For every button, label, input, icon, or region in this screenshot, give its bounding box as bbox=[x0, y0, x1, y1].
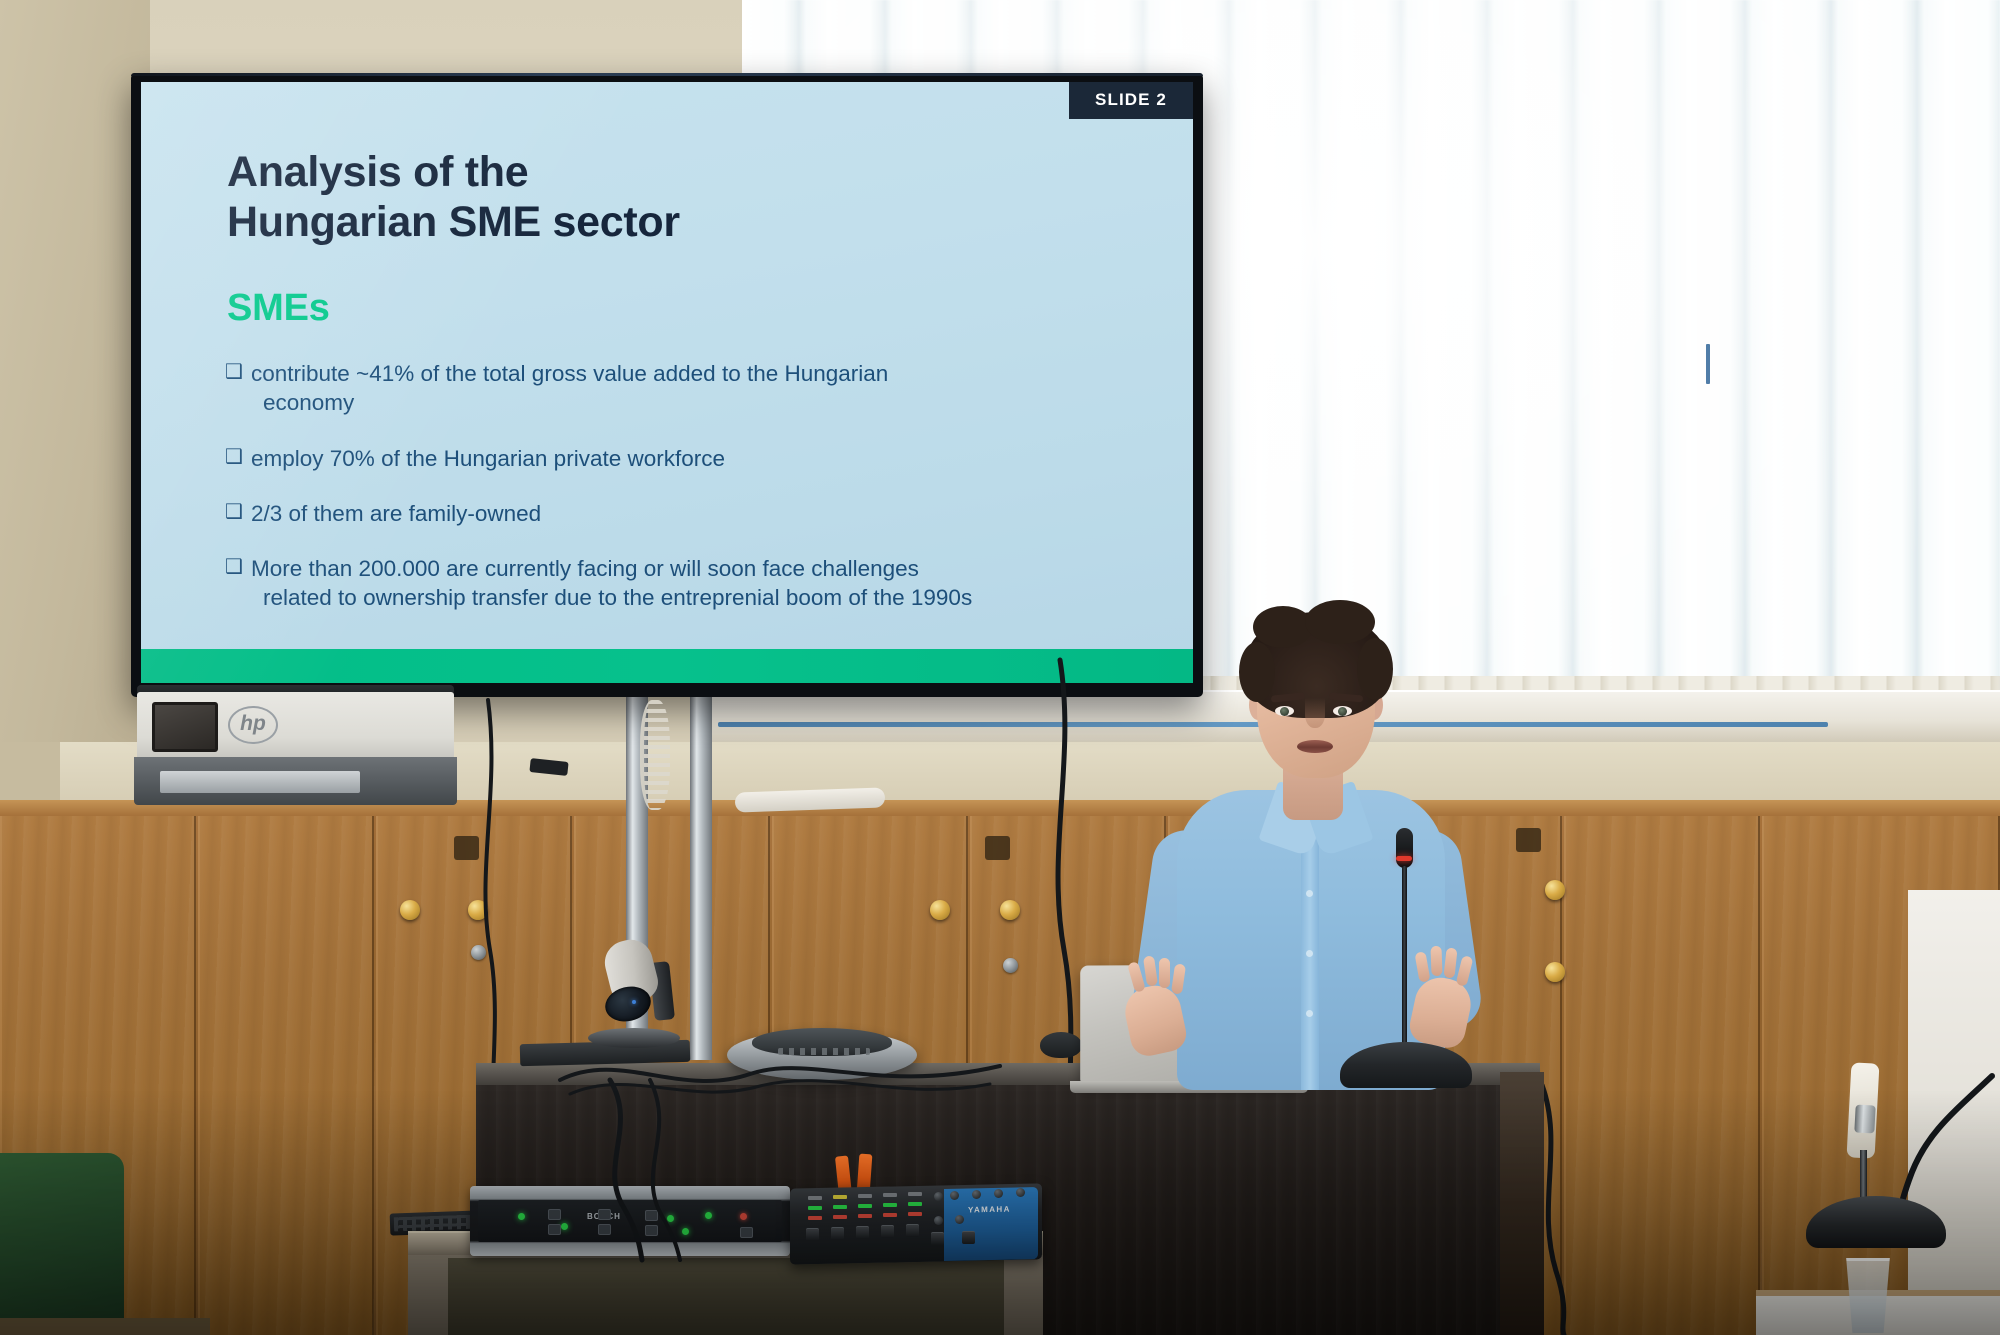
tv-stand-pole bbox=[690, 690, 712, 1060]
slide-bullet-item: ❑ employ 70% of the Hungarian private wo… bbox=[225, 444, 1125, 473]
cabinet-keyhole[interactable] bbox=[471, 945, 486, 960]
slide-bullet-list: ❑ contribute ~41% of the total gross val… bbox=[225, 359, 1125, 639]
mixer-signal-led bbox=[883, 1203, 897, 1207]
left-wall-return bbox=[0, 0, 150, 800]
mixer-channel-strip bbox=[858, 1194, 872, 1198]
mixer-fader[interactable] bbox=[962, 1231, 975, 1244]
mixer-fader[interactable] bbox=[931, 1232, 944, 1245]
mixer-fader[interactable] bbox=[856, 1226, 869, 1239]
rack-button[interactable] bbox=[645, 1210, 658, 1221]
bullet-text-line-1: employ 70% of the Hungarian private work… bbox=[251, 446, 725, 471]
room-photo-scene: SLIDE 2 Analysis of the Hungarian SME se… bbox=[0, 0, 2000, 1335]
slide-canvas: SLIDE 2 Analysis of the Hungarian SME se… bbox=[141, 82, 1193, 683]
mixer-channel-strip bbox=[908, 1192, 922, 1196]
rack-front-panel bbox=[478, 1200, 782, 1242]
status-led-green bbox=[561, 1223, 568, 1230]
hp-logo-icon: hp bbox=[228, 706, 278, 744]
rack-button[interactable] bbox=[645, 1225, 658, 1236]
speakerphone-keypad[interactable] bbox=[778, 1048, 870, 1055]
mixer-knob[interactable] bbox=[950, 1191, 959, 1200]
mixer-knob[interactable] bbox=[994, 1189, 1003, 1198]
presenter bbox=[1125, 590, 1495, 1090]
status-led-green bbox=[667, 1215, 674, 1222]
yamaha-logo-icon: YAMAHA bbox=[968, 1205, 1011, 1215]
shirt-button bbox=[1306, 890, 1313, 897]
status-led-green bbox=[518, 1213, 525, 1220]
rack-button[interactable] bbox=[598, 1209, 611, 1220]
mixer-signal-led bbox=[808, 1206, 822, 1210]
hair-tuft bbox=[1305, 600, 1375, 644]
cabinet-label bbox=[985, 836, 1010, 860]
rack-button[interactable] bbox=[548, 1224, 561, 1235]
mixer-peak-led bbox=[833, 1215, 847, 1219]
cabinet-knob[interactable] bbox=[1545, 962, 1565, 982]
status-led-red bbox=[740, 1213, 747, 1220]
shirt-button bbox=[1306, 1010, 1313, 1017]
cabinet-keyhole[interactable] bbox=[1003, 958, 1018, 973]
bullet-text-line-1: More than 200.000 are currently facing o… bbox=[251, 556, 919, 581]
cabinet-knob[interactable] bbox=[1545, 880, 1565, 900]
mixer-peak-led bbox=[808, 1216, 822, 1220]
bullet-square-icon: ❑ bbox=[225, 502, 243, 522]
desk-side-panel bbox=[1500, 1072, 1544, 1335]
mixer-channel-strip bbox=[808, 1196, 822, 1200]
bullet-text-line-1: 2/3 of them are family-owned bbox=[251, 501, 541, 526]
status-led-green bbox=[682, 1228, 689, 1235]
mixer-peak-led bbox=[858, 1214, 872, 1218]
camera-base bbox=[588, 1028, 680, 1048]
slide-bullet-item: ❑ 2/3 of them are family-owned bbox=[225, 499, 1125, 528]
rack-button[interactable] bbox=[598, 1224, 611, 1235]
mixer-fader[interactable] bbox=[831, 1227, 844, 1240]
finger bbox=[1159, 958, 1170, 988]
mixer-signal-led bbox=[858, 1204, 872, 1208]
mixer-fader[interactable] bbox=[806, 1228, 819, 1241]
green-chair[interactable] bbox=[0, 1153, 124, 1335]
rack-button[interactable] bbox=[740, 1227, 753, 1238]
status-led-green bbox=[705, 1212, 712, 1219]
floor bbox=[0, 1318, 210, 1335]
mixer-knob[interactable] bbox=[934, 1192, 943, 1201]
slide-subtitle: SMEs bbox=[227, 287, 330, 330]
presenter-mouth bbox=[1297, 740, 1333, 753]
equipment-cart-shelf bbox=[448, 1258, 1004, 1335]
hair-tuft bbox=[1239, 642, 1275, 702]
presentation-display: SLIDE 2 Analysis of the Hungarian SME se… bbox=[131, 73, 1203, 697]
slide-number-badge: SLIDE 2 bbox=[1069, 82, 1193, 119]
cabinet-label bbox=[1516, 828, 1541, 852]
computer-mouse[interactable] bbox=[1040, 1032, 1082, 1058]
bullet-text-line-1: contribute ~41% of the total gross value… bbox=[251, 361, 888, 386]
cabinet-knob[interactable] bbox=[1000, 900, 1020, 920]
presenter-eye bbox=[1333, 706, 1352, 716]
cabinet-knob[interactable] bbox=[468, 900, 488, 920]
microphone-head bbox=[1396, 828, 1413, 868]
bullet-text-line-2: related to ownership transfer due to the… bbox=[251, 583, 1125, 612]
slide-title-line-1: Analysis of the bbox=[227, 148, 680, 198]
slide-title-line-2: Hungarian SME sector bbox=[227, 198, 680, 248]
presenter-eye bbox=[1275, 706, 1294, 716]
shirt-button bbox=[1306, 950, 1313, 957]
mixer-fader[interactable] bbox=[906, 1224, 919, 1237]
mixer-fader[interactable] bbox=[881, 1225, 894, 1238]
blind-clip bbox=[1706, 344, 1710, 384]
display-bezel bbox=[131, 73, 1203, 76]
cabinet-door[interactable] bbox=[1564, 816, 1760, 1335]
cabinet-label bbox=[454, 836, 479, 860]
slide-bullet-item: ❑ contribute ~41% of the total gross val… bbox=[225, 359, 1125, 418]
slide-accent-bar bbox=[141, 649, 1193, 683]
mixer-knob[interactable] bbox=[934, 1216, 943, 1225]
wall-left-lower bbox=[0, 742, 60, 808]
finger bbox=[1430, 946, 1442, 976]
cabinet-door[interactable] bbox=[198, 816, 374, 1335]
microphone-gooseneck bbox=[1402, 866, 1407, 1062]
mixer-peak-led bbox=[883, 1213, 897, 1217]
mixer-knob[interactable] bbox=[1016, 1188, 1025, 1197]
phone-cord bbox=[640, 700, 670, 810]
camera-indicator-icon bbox=[632, 1000, 636, 1004]
printer-paper-tray[interactable] bbox=[160, 771, 360, 793]
mixer-channel-strip bbox=[883, 1193, 897, 1197]
bullet-square-icon: ❑ bbox=[225, 557, 243, 577]
cabinet-knob[interactable] bbox=[930, 900, 950, 920]
mixer-peak-led bbox=[908, 1212, 922, 1216]
shirt-placket bbox=[1301, 840, 1319, 1090]
printer-display[interactable] bbox=[152, 702, 218, 752]
slide-bullet-item: ❑ More than 200.000 are currently facing… bbox=[225, 554, 1125, 613]
mixer-knob[interactable] bbox=[972, 1190, 981, 1199]
microphone-active-indicator-icon bbox=[1396, 856, 1412, 861]
mixer-signal-led bbox=[908, 1202, 922, 1206]
cabinet-knob[interactable] bbox=[400, 900, 420, 920]
bullet-square-icon: ❑ bbox=[225, 362, 243, 382]
mixer-knob[interactable] bbox=[955, 1215, 964, 1224]
bullet-text-line-2: economy bbox=[251, 388, 1125, 417]
bullet-square-icon: ❑ bbox=[225, 447, 243, 467]
mixer-signal-led bbox=[833, 1205, 847, 1209]
slide-title: Analysis of the Hungarian SME sector bbox=[227, 148, 680, 248]
presenter-nose bbox=[1305, 698, 1325, 728]
mixer-channel-strip bbox=[833, 1195, 847, 1199]
hair-tuft bbox=[1253, 606, 1313, 648]
microphone-capsule bbox=[1854, 1104, 1875, 1133]
hair-tuft bbox=[1357, 638, 1393, 700]
rack-button[interactable] bbox=[548, 1209, 561, 1220]
